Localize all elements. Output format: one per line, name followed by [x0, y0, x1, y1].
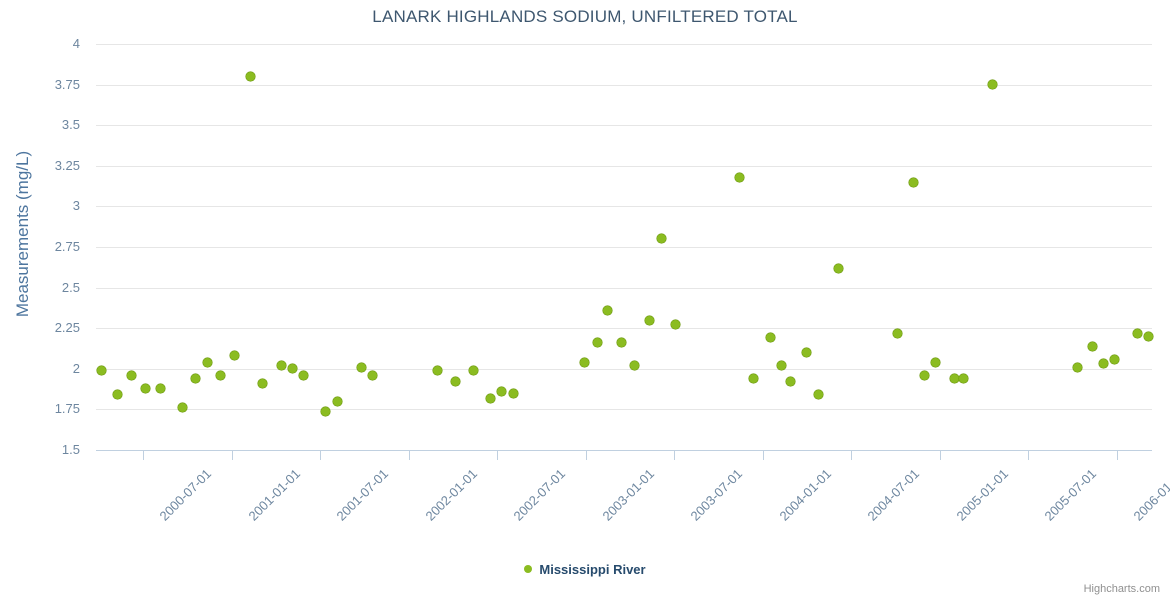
data-point[interactable] [802, 348, 811, 357]
x-axis-tick-label: 2003-01-01 [599, 466, 657, 524]
data-point[interactable] [321, 407, 330, 416]
data-point[interactable] [368, 371, 377, 380]
y-axis-tick-label: 3.75 [0, 78, 80, 91]
y-axis-tick-label: 2 [0, 362, 80, 375]
y-axis-tick-label: 2.75 [0, 240, 80, 253]
data-point[interactable] [299, 371, 308, 380]
data-point[interactable] [97, 366, 106, 375]
x-axis-tick-label: 2005-01-01 [953, 466, 1011, 524]
x-axis-tick-label: 2002-07-01 [510, 466, 568, 524]
data-point[interactable] [988, 80, 997, 89]
x-axis-tick-label: 2004-07-01 [864, 466, 922, 524]
data-point[interactable] [277, 361, 286, 370]
data-point[interactable] [246, 72, 255, 81]
data-point[interactable] [645, 316, 654, 325]
data-point[interactable] [113, 390, 122, 399]
data-point[interactable] [931, 358, 940, 367]
y-axis-tick-label: 1.5 [0, 443, 80, 456]
x-axis-tick [409, 451, 410, 460]
y-axis-tick-label: 4 [0, 37, 80, 50]
data-point[interactable] [834, 264, 843, 273]
data-point[interactable] [178, 403, 187, 412]
data-point[interactable] [735, 173, 744, 182]
x-axis-tick [763, 451, 764, 460]
data-point[interactable] [909, 178, 918, 187]
x-axis-tick [1117, 451, 1118, 460]
data-point[interactable] [127, 371, 136, 380]
gridline [96, 409, 1152, 410]
data-point[interactable] [469, 366, 478, 375]
gridline [96, 369, 1152, 370]
data-point[interactable] [333, 397, 342, 406]
x-axis-tick [320, 451, 321, 460]
chart-container: LANARK HIGHLANDS SODIUM, UNFILTERED TOTA… [0, 0, 1170, 600]
data-point[interactable] [950, 374, 959, 383]
legend-item-label: Mississippi River [539, 562, 645, 577]
chart-legend: Mississippi River [0, 561, 1170, 577]
data-point[interactable] [959, 374, 968, 383]
x-axis-tick-label: 2001-07-01 [333, 466, 391, 524]
y-axis-tick-label: 3.5 [0, 118, 80, 131]
x-axis-tick-label: 2003-07-01 [687, 466, 745, 524]
data-point[interactable] [497, 387, 506, 396]
credits-watermark[interactable]: Highcharts.com [1084, 583, 1160, 595]
data-point[interactable] [357, 363, 366, 372]
legend-item-mississippi-river[interactable]: Mississippi River [524, 561, 645, 577]
x-axis-line [96, 450, 1152, 451]
gridline [96, 328, 1152, 329]
y-axis-tick-label: 2.25 [0, 321, 80, 334]
y-axis-tick-label: 3.25 [0, 159, 80, 172]
x-axis-tick-label: 2006-01-01 [1130, 466, 1170, 524]
data-point[interactable] [766, 333, 775, 342]
data-point[interactable] [920, 371, 929, 380]
data-point[interactable] [258, 379, 267, 388]
data-point[interactable] [1144, 332, 1153, 341]
data-point[interactable] [617, 338, 626, 347]
data-point[interactable] [749, 374, 758, 383]
data-point[interactable] [191, 374, 200, 383]
gridline [96, 206, 1152, 207]
data-point[interactable] [593, 338, 602, 347]
data-point[interactable] [141, 384, 150, 393]
gridline [96, 247, 1152, 248]
data-point[interactable] [893, 329, 902, 338]
data-point[interactable] [786, 377, 795, 386]
x-axis-tick-label: 2004-01-01 [776, 466, 834, 524]
gridline [96, 125, 1152, 126]
y-axis-tick-label: 1.75 [0, 402, 80, 415]
data-point[interactable] [433, 366, 442, 375]
x-axis-tick [497, 451, 498, 460]
data-point[interactable] [509, 389, 518, 398]
x-axis-tick [674, 451, 675, 460]
data-point[interactable] [1133, 329, 1142, 338]
data-point[interactable] [230, 351, 239, 360]
x-axis-tick [143, 451, 144, 460]
gridline [96, 288, 1152, 289]
x-axis-tick-label: 2002-01-01 [422, 466, 480, 524]
data-point[interactable] [156, 384, 165, 393]
gridline [96, 44, 1152, 45]
x-axis-tick [940, 451, 941, 460]
y-axis-tick-label: 2.5 [0, 281, 80, 294]
x-axis-tick [851, 451, 852, 460]
x-axis-tick [232, 451, 233, 460]
chart-title: LANARK HIGHLANDS SODIUM, UNFILTERED TOTA… [0, 7, 1170, 27]
x-axis-tick-label: 2001-01-01 [245, 466, 303, 524]
data-point[interactable] [216, 371, 225, 380]
data-point[interactable] [288, 364, 297, 373]
data-point[interactable] [1110, 355, 1119, 364]
y-axis-tick-label: 3 [0, 199, 80, 212]
data-point[interactable] [486, 394, 495, 403]
data-point[interactable] [580, 358, 589, 367]
legend-marker-icon [524, 565, 532, 573]
x-axis-tick-label: 2000-07-01 [156, 466, 214, 524]
data-point[interactable] [203, 358, 212, 367]
data-point[interactable] [451, 377, 460, 386]
gridline [96, 166, 1152, 167]
data-point[interactable] [1088, 342, 1097, 351]
y-axis-tick-labels: 1.51.7522.252.52.7533.253.53.754 [0, 0, 88, 600]
x-axis-tick-label: 2005-07-01 [1041, 466, 1099, 524]
x-axis-tick [1028, 451, 1029, 460]
x-axis-tick [586, 451, 587, 460]
data-point[interactable] [777, 361, 786, 370]
data-point[interactable] [814, 390, 823, 399]
plot-area [96, 44, 1152, 450]
data-point[interactable] [657, 234, 666, 243]
data-point[interactable] [1099, 359, 1108, 368]
data-point[interactable] [630, 361, 639, 370]
data-point[interactable] [1073, 363, 1082, 372]
data-point[interactable] [603, 306, 612, 315]
data-point[interactable] [671, 320, 680, 329]
